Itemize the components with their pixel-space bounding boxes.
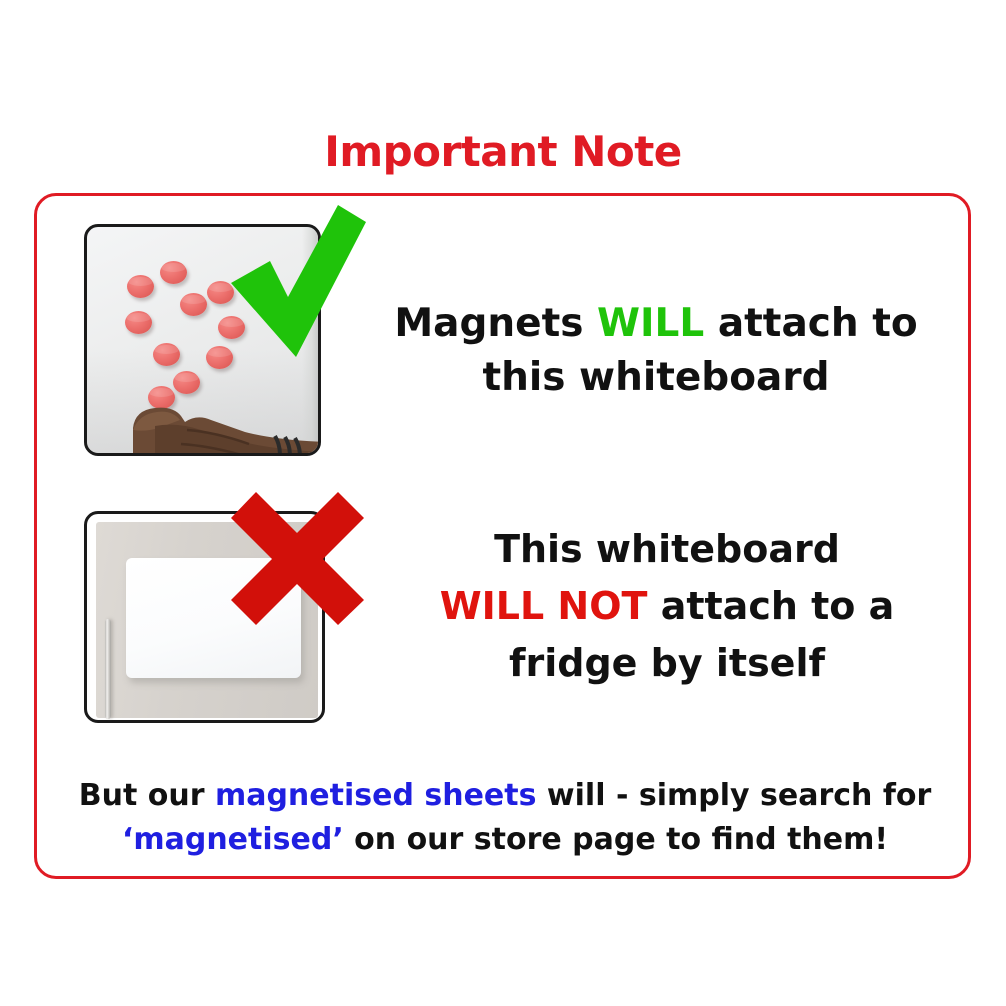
message-line-3: fridge by itself xyxy=(372,635,962,692)
magnet-disc xyxy=(160,261,187,284)
message-line-1: This whiteboard xyxy=(372,521,962,578)
footer-pre: But our xyxy=(79,778,215,813)
message-whiteboard-will-not-attach: This whiteboard WILL NOT attach to a fri… xyxy=(372,521,962,692)
message-line-1: Magnets WILL attach to xyxy=(352,297,960,351)
message-line-2: WILL NOT attach to a xyxy=(372,578,962,635)
msg-will-post: attach to xyxy=(704,301,917,346)
magnet-disc xyxy=(125,311,152,334)
footer-highlight-sheets: magnetised sheets xyxy=(215,778,537,813)
msg-will-pre: Magnets xyxy=(394,301,597,346)
magnet-disc xyxy=(180,293,207,316)
footer-post: will - simply search for xyxy=(536,778,931,813)
footer-line-1: But our magnetised sheets will - simply … xyxy=(40,774,970,818)
footer-note: But our magnetised sheets will - simply … xyxy=(40,774,970,862)
magnet-disc xyxy=(127,275,154,298)
message-magnets-will-attach: Magnets WILL attach to this whiteboard xyxy=(352,297,960,405)
page-title: Important Note xyxy=(0,128,1006,176)
msg-willnot-post: attach to a xyxy=(647,584,894,628)
check-mark-icon xyxy=(226,205,366,357)
cross-mark-icon xyxy=(231,492,364,625)
msg-willnot-highlight: WILL NOT xyxy=(440,584,648,628)
message-line-2: this whiteboard xyxy=(352,351,960,405)
fridge-handle xyxy=(105,619,111,719)
msg-will-highlight: WILL xyxy=(597,301,704,346)
footer-highlight-keyword: ‘magnetised’ xyxy=(122,822,344,857)
footer-line-2: ‘magnetised’ on our store page to find t… xyxy=(40,818,970,862)
magnet-disc xyxy=(153,343,180,366)
hand-illustration xyxy=(125,370,321,456)
footer-line2-post: on our store page to find them! xyxy=(344,822,888,857)
